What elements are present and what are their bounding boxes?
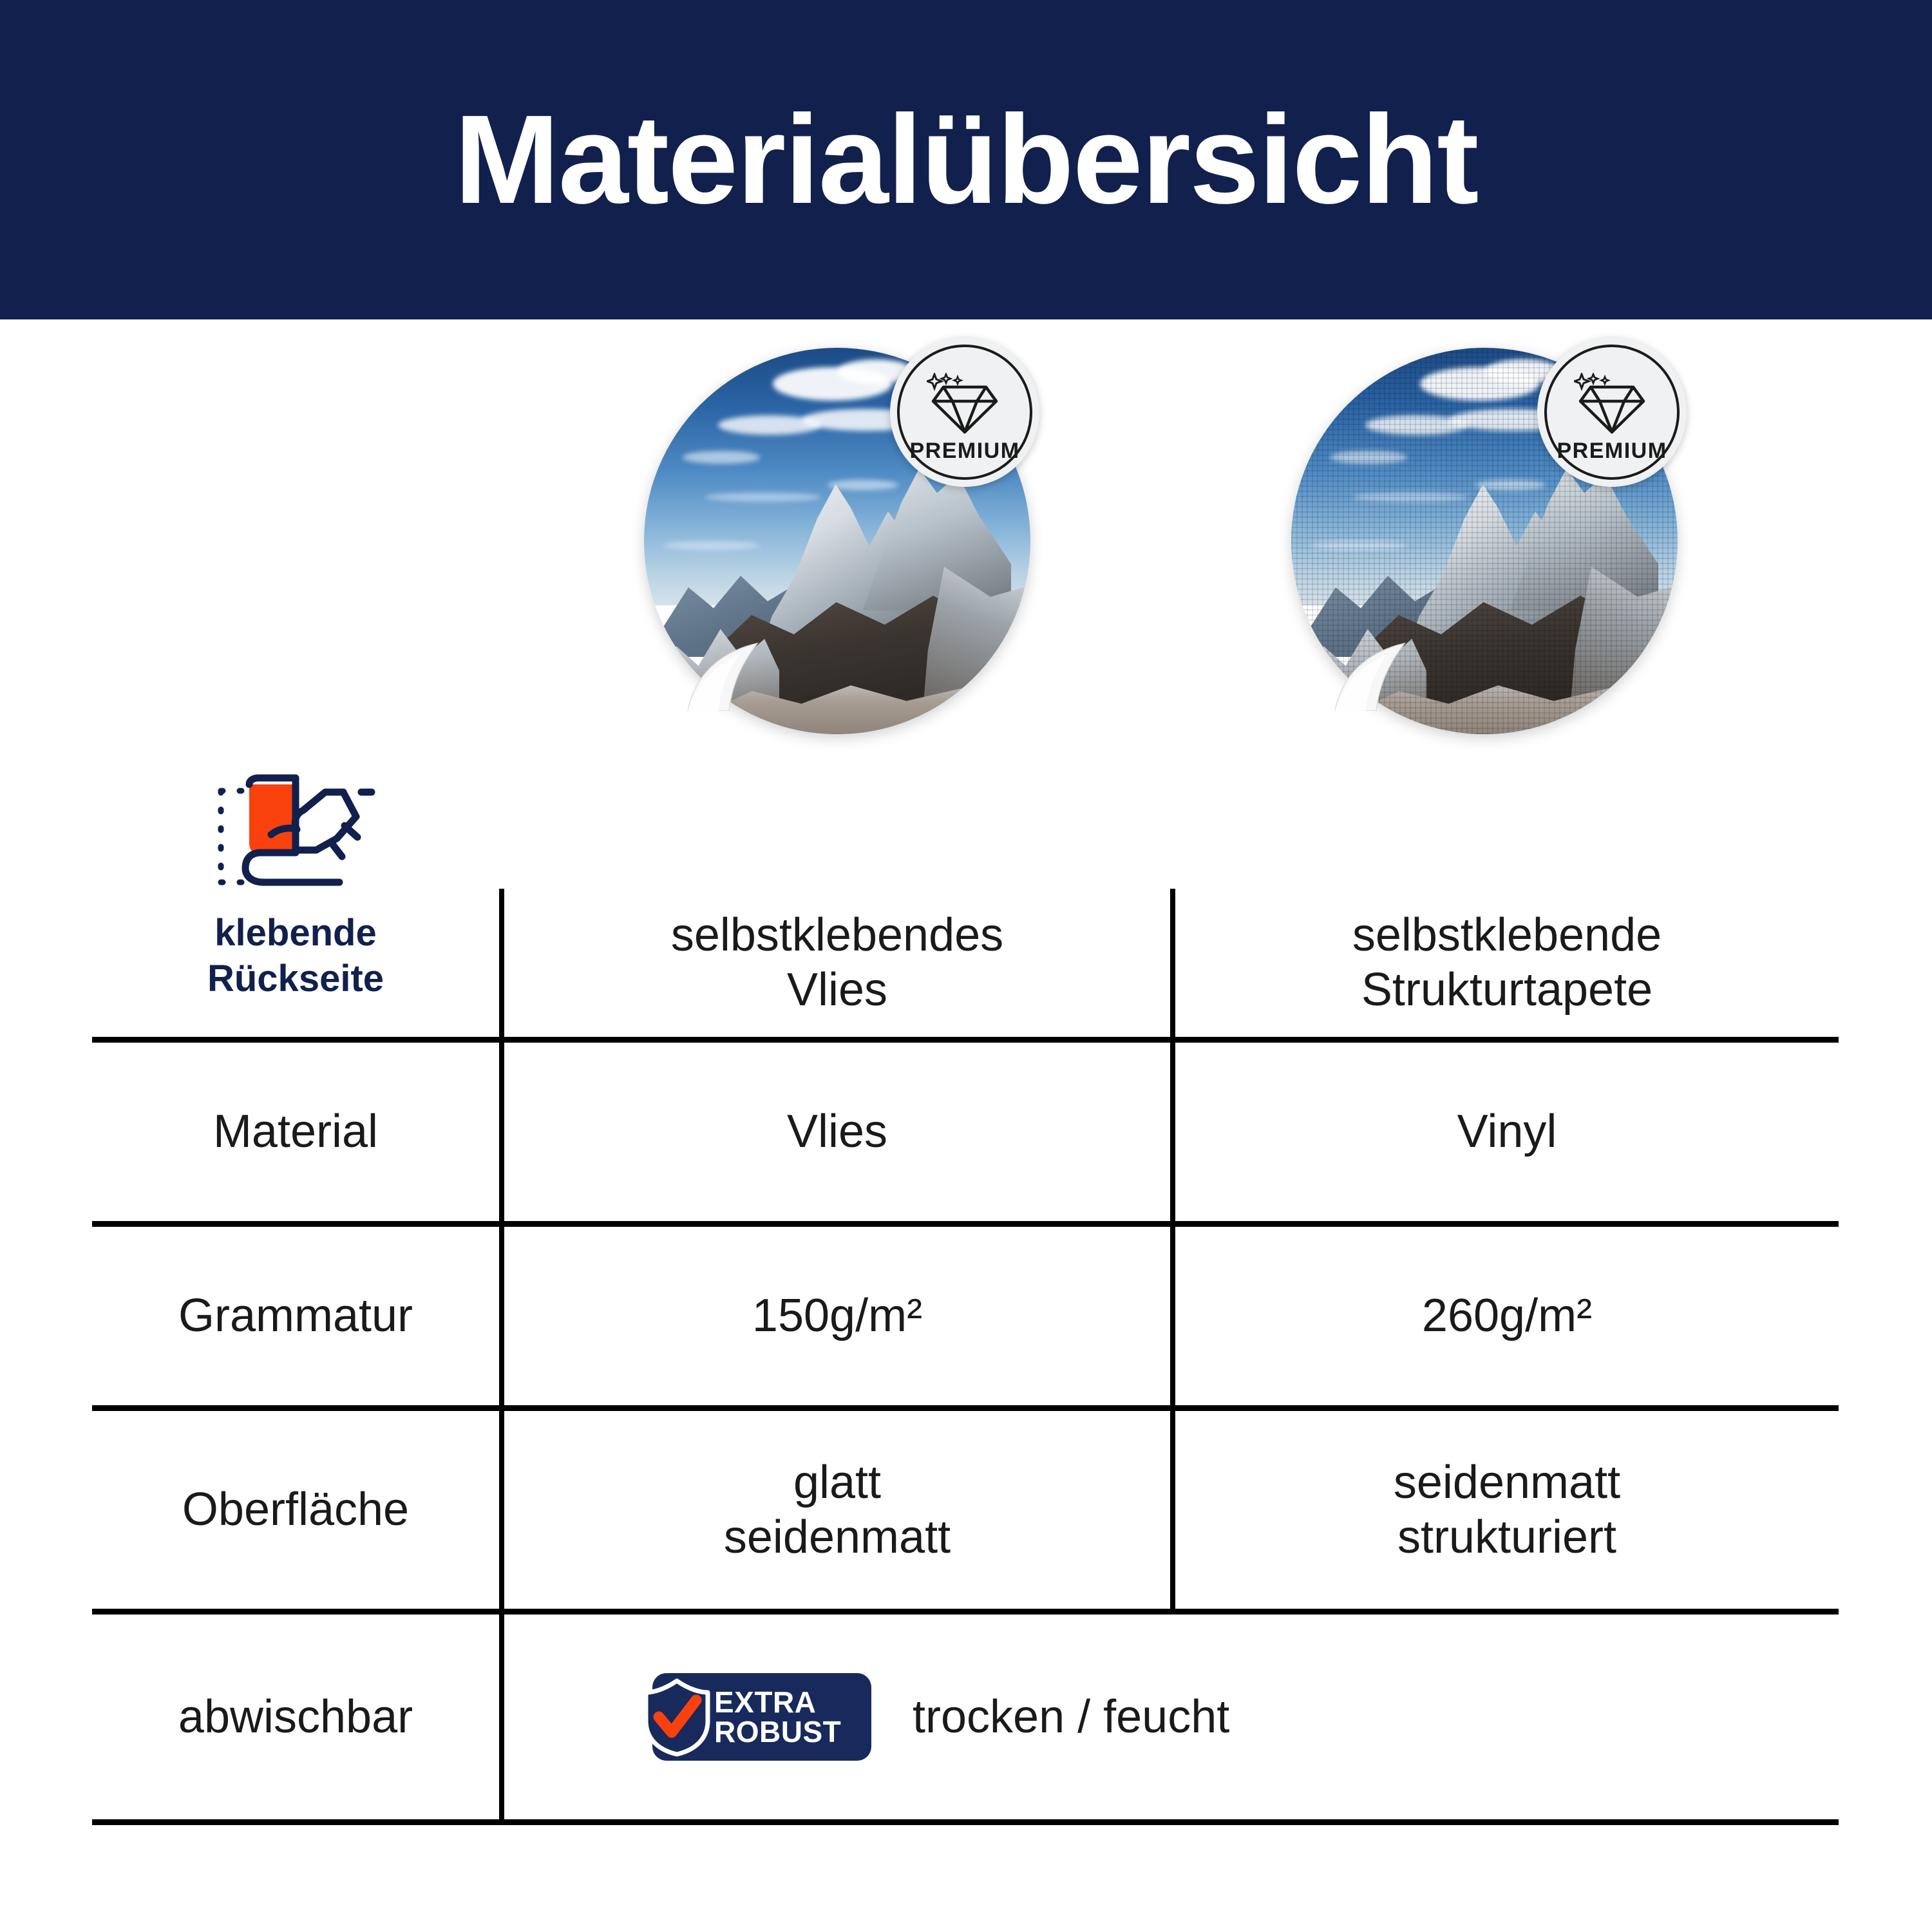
table-rowlabel-abwischbar: abwischbar: [92, 1615, 499, 1819]
product2-name-line1: selbstklebende: [1352, 908, 1662, 963]
table-row-divider: [92, 1609, 1839, 1615]
cloud-icon: [683, 451, 760, 464]
table-column-divider-2: [1170, 889, 1175, 1609]
extra-robust-badge: EXTRA ROBUST: [652, 1673, 871, 1761]
sticky-back-caption-line2: Rückseite: [207, 956, 384, 1002]
table-cell-oberflaeche-col2: seidenmatt strukturiert: [1175, 1411, 1839, 1609]
table-cell-product1-name: selbstklebendes Vlies: [504, 889, 1170, 1037]
cloud-icon: [705, 493, 821, 502]
table-cell-oberflaeche-col1: glatt seidenmatt: [504, 1411, 1170, 1609]
page-header: Materialübersicht: [0, 0, 1932, 319]
table-bottom-border: [92, 1819, 1839, 1825]
table-cell-material-vinyl: Vinyl: [1175, 1043, 1839, 1221]
table-rowlabel-oberflaeche: Oberfläche: [92, 1411, 499, 1609]
badge-ring: [897, 345, 1032, 480]
wipeable-value-group: EXTRA ROBUST trocken / feucht: [652, 1673, 1229, 1761]
sticky-back-cell: klebende Rückseite: [92, 760, 499, 1038]
extra-robust-line1: EXTRA: [714, 1687, 841, 1717]
premium-badge: PREMIUM: [890, 337, 1039, 487]
material-overview-page: Materialübersicht: [0, 0, 1932, 1932]
oberflaeche-col2-line1: seidenmatt: [1394, 1455, 1620, 1510]
wipeable-value-text: trocken / feucht: [913, 1690, 1229, 1743]
premium-badge: PREMIUM: [1537, 337, 1687, 487]
material-spec-table: klebende Rückseite selbstklebendes Vlies…: [92, 760, 1839, 1823]
product-preview-strukturtapete[interactable]: PREMIUM: [1291, 348, 1678, 734]
peeling-sticker-hand-icon: [199, 773, 392, 899]
table-rowlabel-material: Material: [92, 1043, 499, 1221]
cloud-icon: [1352, 493, 1468, 502]
sticky-back-caption-line1: klebende: [207, 911, 384, 956]
extra-robust-line2: ROBUST: [714, 1717, 841, 1747]
cloud-icon: [1311, 541, 1407, 550]
product1-name-line1: selbstklebendes: [671, 908, 1003, 963]
product2-name-line2: Strukturtapete: [1361, 963, 1653, 1018]
oberflaeche-col1-line2: seidenmatt: [724, 1510, 951, 1565]
cloud-icon: [663, 541, 760, 550]
cloud-icon: [1330, 451, 1407, 464]
page-title: Materialübersicht: [455, 97, 1478, 223]
table-cell-grammatur-col1: 150g/m²: [504, 1227, 1170, 1405]
table-rowlabel-grammatur: Grammatur: [92, 1227, 499, 1405]
table-column-divider-1: [499, 889, 504, 1819]
oberflaeche-col2-line2: strukturiert: [1397, 1510, 1616, 1565]
sticky-back-caption: klebende Rückseite: [207, 911, 384, 1002]
product-preview-row: PREMIUM: [0, 335, 1932, 760]
table-cell-grammatur-col2: 260g/m²: [1175, 1227, 1839, 1405]
table-row-divider: [92, 1405, 1839, 1411]
table-cell-material-vlies: Vlies: [504, 1043, 1170, 1221]
shield-check-icon: [641, 1678, 713, 1757]
product-preview-vlies[interactable]: PREMIUM: [644, 348, 1030, 734]
extra-robust-label: EXTRA ROBUST: [714, 1687, 841, 1747]
badge-ring: [1544, 345, 1680, 480]
oberflaeche-col1-line1: glatt: [793, 1455, 881, 1510]
table-cell-product2-name: selbstklebende Strukturtapete: [1175, 889, 1839, 1037]
table-row-divider: [92, 1221, 1839, 1227]
product1-name-line2: Vlies: [787, 963, 887, 1018]
